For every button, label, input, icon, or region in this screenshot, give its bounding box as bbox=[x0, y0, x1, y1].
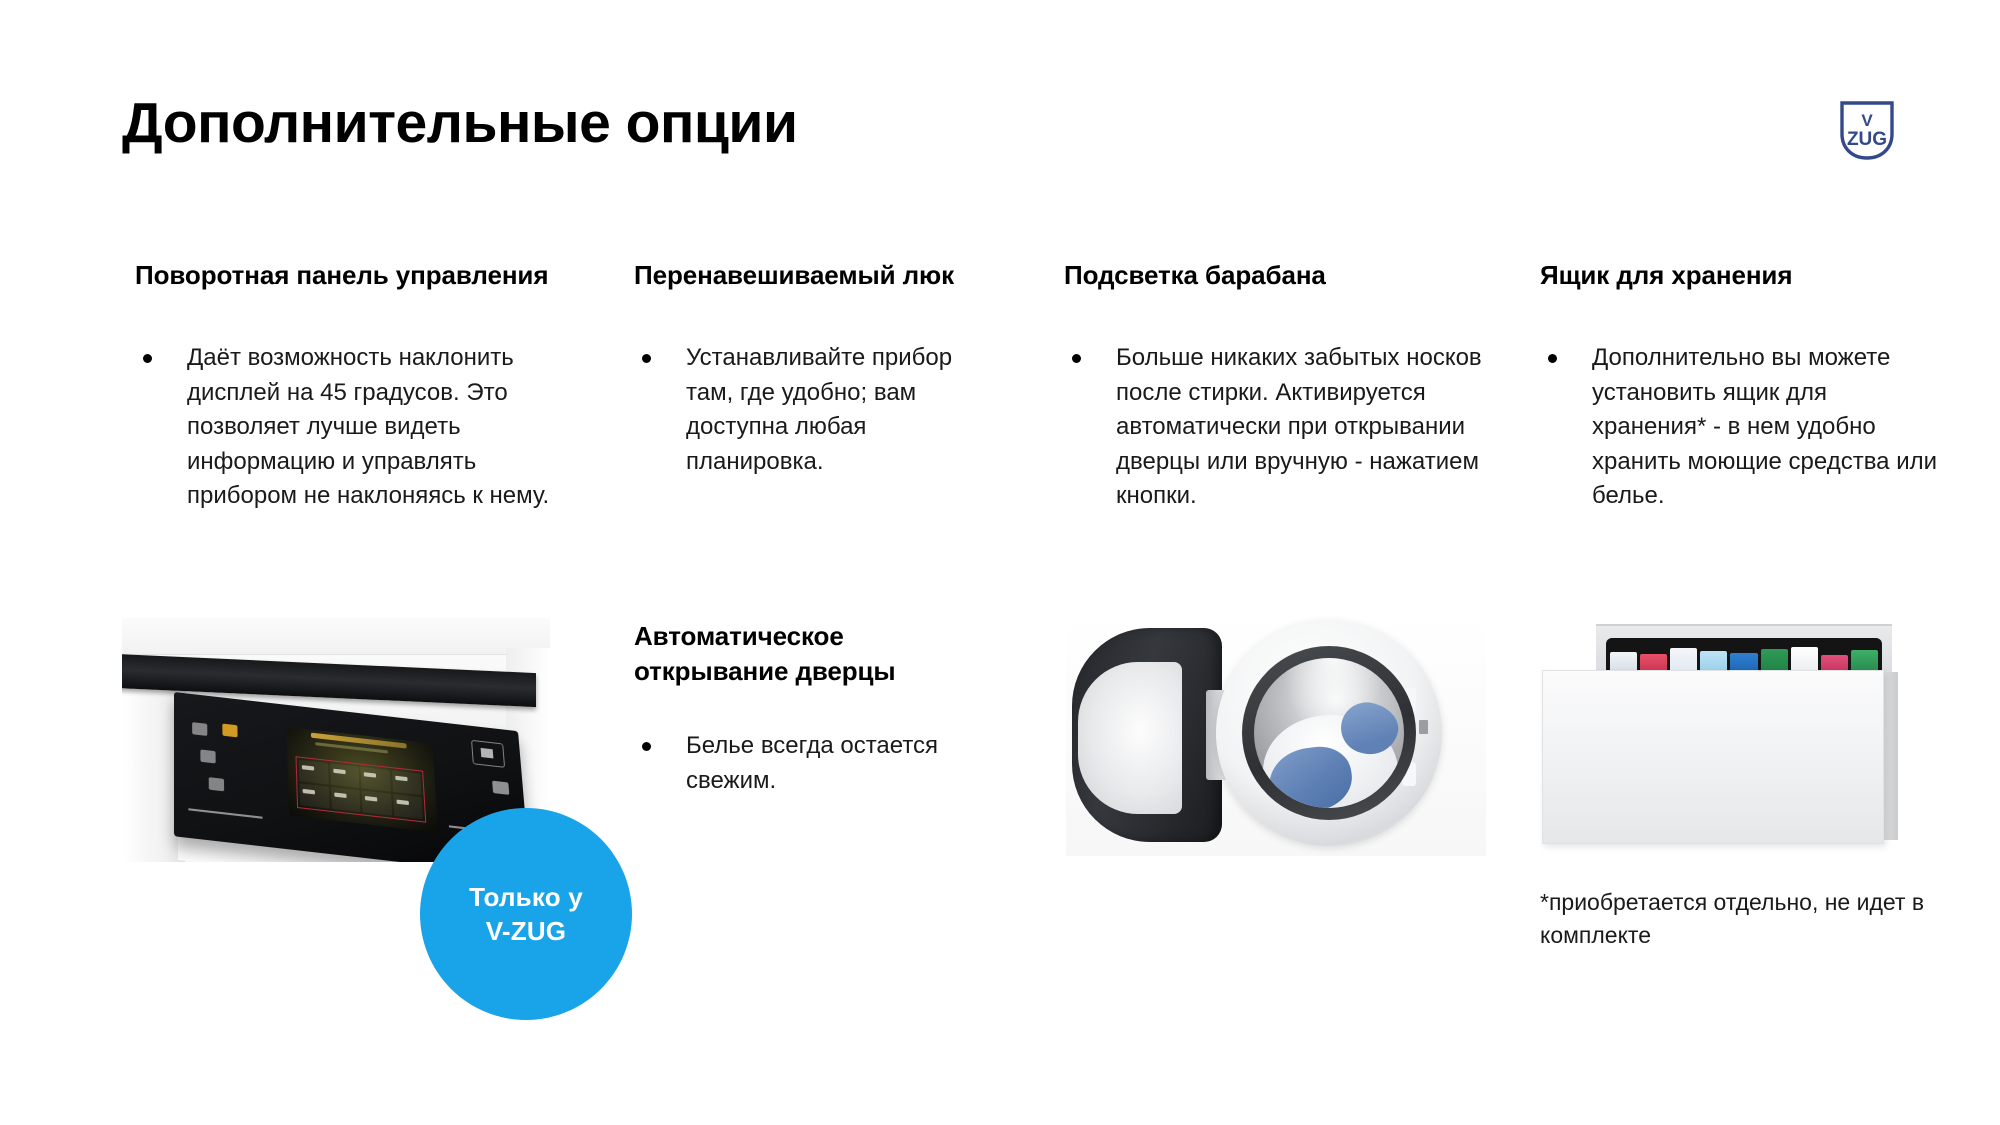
v-zug-logo: V ZUG bbox=[1838, 100, 1896, 162]
page-title: Дополнительные опции bbox=[122, 92, 798, 155]
bullet-item: Даёт возможность наклонить дисплей на 45… bbox=[135, 341, 575, 514]
bullet-item: Устанавливайте прибор там, где удобно; в… bbox=[634, 341, 994, 479]
badge-line-1: Только у bbox=[469, 880, 583, 914]
column-4-bullets: Дополнительно вы можете установить ящик … bbox=[1540, 341, 1940, 514]
column-storage-drawer: Ящик для хранения Дополнительно вы может… bbox=[1540, 258, 1940, 514]
only-at-vzug-badge: Только у V-ZUG bbox=[420, 808, 632, 1020]
badge-line-2: V-ZUG bbox=[486, 914, 566, 948]
column-2-second-block: Автоматическое открывание дверцы Белье в… bbox=[634, 619, 994, 798]
column-3-heading: Подсветка барабана bbox=[1064, 258, 1494, 293]
column-reversible-door: Перенавешиваемый люк Устанавливайте приб… bbox=[634, 258, 994, 799]
column-drum-lighting: Подсветка барабана Больше никаких забыты… bbox=[1064, 258, 1494, 514]
column-1-bullets: Даёт возможность наклонить дисплей на 45… bbox=[135, 341, 575, 514]
storage-drawer-photo bbox=[1540, 610, 1912, 860]
column-2-bullets: Устанавливайте прибор там, где удобно; в… bbox=[634, 341, 994, 479]
bullet-item: Больше никаких забытых носков после стир… bbox=[1064, 341, 1494, 514]
bullet-item: Белье всегда остается свежим. bbox=[634, 729, 994, 798]
storage-drawer-footnote: *приобретается отдельно, не идет в компл… bbox=[1540, 886, 1960, 953]
bullet-item: Дополнительно вы можете установить ящик … bbox=[1540, 341, 1940, 514]
logo-v-text: V bbox=[1861, 111, 1873, 130]
column-1-heading: Поворотная панель управления bbox=[135, 258, 575, 293]
column-2-heading: Перенавешиваемый люк bbox=[634, 258, 994, 293]
column-2-second-bullets: Белье всегда остается свежим. bbox=[634, 729, 994, 798]
column-rotating-panel: Поворотная панель управления Даёт возмож… bbox=[135, 258, 575, 514]
illuminated-drum-photo bbox=[1066, 614, 1486, 856]
panel-display bbox=[287, 727, 438, 833]
column-3-bullets: Больше никаких забытых носков после стир… bbox=[1064, 341, 1494, 514]
column-2-second-heading: Автоматическое открывание дверцы bbox=[634, 619, 994, 689]
slide-root: Дополнительные опции V ZUG Поворотная па… bbox=[0, 0, 2000, 1125]
logo-zug-text: ZUG bbox=[1847, 129, 1887, 150]
column-4-heading: Ящик для хранения bbox=[1540, 258, 1940, 293]
